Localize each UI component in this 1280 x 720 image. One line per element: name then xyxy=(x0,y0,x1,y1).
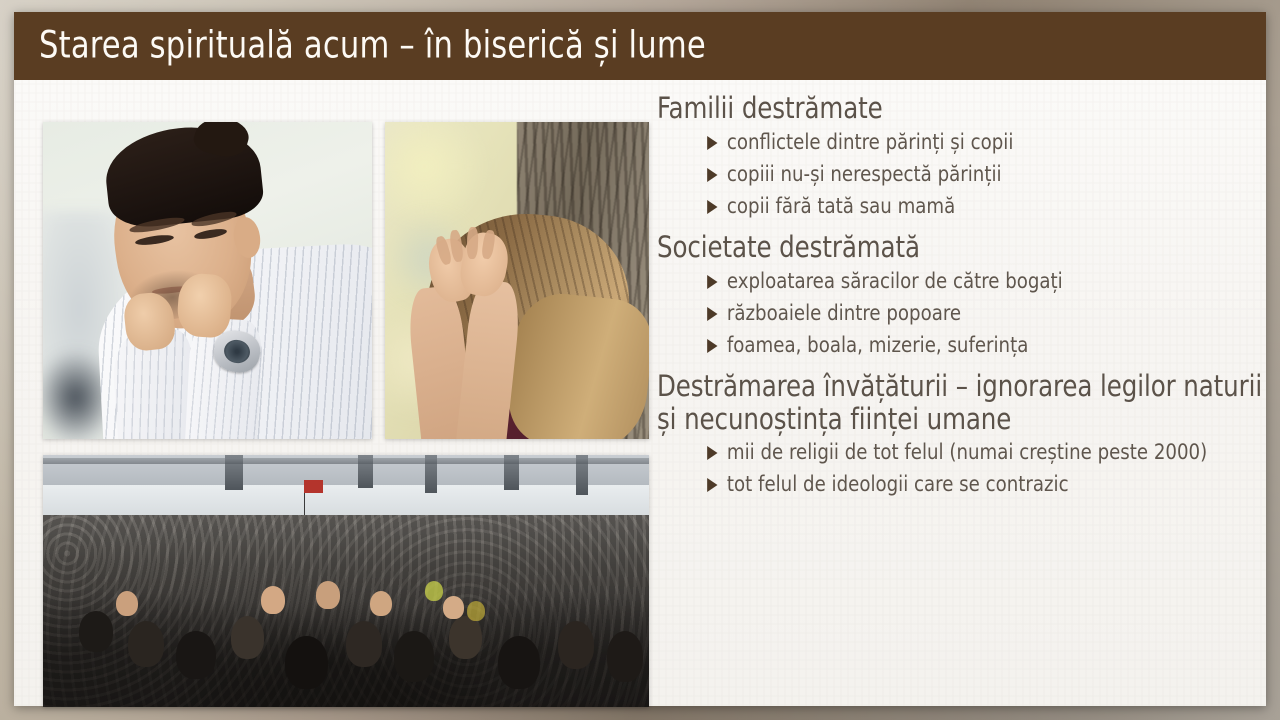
triangle-bullet-icon xyxy=(707,275,717,289)
triangle-bullet-icon xyxy=(707,339,717,353)
bullet-text: foamea, boala, mizerie, suferința xyxy=(727,333,1028,358)
bullet-text: mii de religii de tot felul (numai creșt… xyxy=(727,440,1207,465)
bullet-text: războaiele dintre popoare xyxy=(727,301,961,326)
triangle-bullet-icon xyxy=(707,446,717,460)
bullet-text: tot felul de ideologii care se contrazic xyxy=(727,472,1069,497)
section-heading: Familii destrămate xyxy=(657,92,1223,125)
section-familii: Familii destrămate conflictele dintre pă… xyxy=(647,92,1259,222)
bullet-item: tot felul de ideologii care se contrazic xyxy=(647,469,1222,500)
bullet-item: conflictele dintre părinți și copii xyxy=(647,127,1222,158)
bullet-item: copii fără tată sau mamă xyxy=(647,191,1222,222)
bullet-item: foamea, boala, mizerie, suferința xyxy=(647,330,1222,361)
triangle-bullet-icon xyxy=(707,200,717,214)
bullet-list: mii de religii de tot felul (numai creșt… xyxy=(647,437,1259,500)
presentation-slide: Starea spirituală acum – în biserică și … xyxy=(14,12,1266,706)
bullet-text: copii fără tată sau mamă xyxy=(727,194,955,219)
bullet-item: mii de religii de tot felul (numai creșt… xyxy=(647,437,1222,468)
slide-content: Familii destrămate conflictele dintre pă… xyxy=(647,92,1259,509)
bullet-item: exploatarea săracilor de către bogați xyxy=(647,266,1222,297)
section-societate: Societate destrămată exploatarea săracil… xyxy=(647,231,1259,361)
triangle-bullet-icon xyxy=(707,136,717,150)
section-heading: Societate destrămată xyxy=(657,231,1223,264)
section-destramarea-invataturii: Destrămarea învățăturii – ignorarea legi… xyxy=(647,370,1259,500)
triangle-bullet-icon xyxy=(707,478,717,492)
section-heading: Destrămarea învățăturii – ignorarea legi… xyxy=(657,370,1273,436)
bullet-list: conflictele dintre părinți și copii copi… xyxy=(647,127,1259,222)
triangle-bullet-icon xyxy=(707,307,717,321)
pensive-man-photo xyxy=(43,122,372,439)
bullet-text: copiii nu-și nerespectă părinții xyxy=(727,162,1002,187)
bullet-list: exploatarea săracilor de către bogați ră… xyxy=(647,266,1259,361)
triangle-bullet-icon xyxy=(707,168,717,182)
bullet-item: copiii nu-și nerespectă părinții xyxy=(647,159,1222,190)
bullet-text: conflictele dintre părinți și copii xyxy=(727,130,1013,155)
photo-collage xyxy=(29,52,636,637)
winter-crowd-photo xyxy=(43,455,649,707)
slide-stage: Starea spirituală acum – în biserică și … xyxy=(0,0,1280,720)
distressed-woman-photo xyxy=(385,122,649,439)
bullet-text: exploatarea săracilor de către bogați xyxy=(727,269,1063,294)
bullet-item: războaiele dintre popoare xyxy=(647,298,1222,329)
